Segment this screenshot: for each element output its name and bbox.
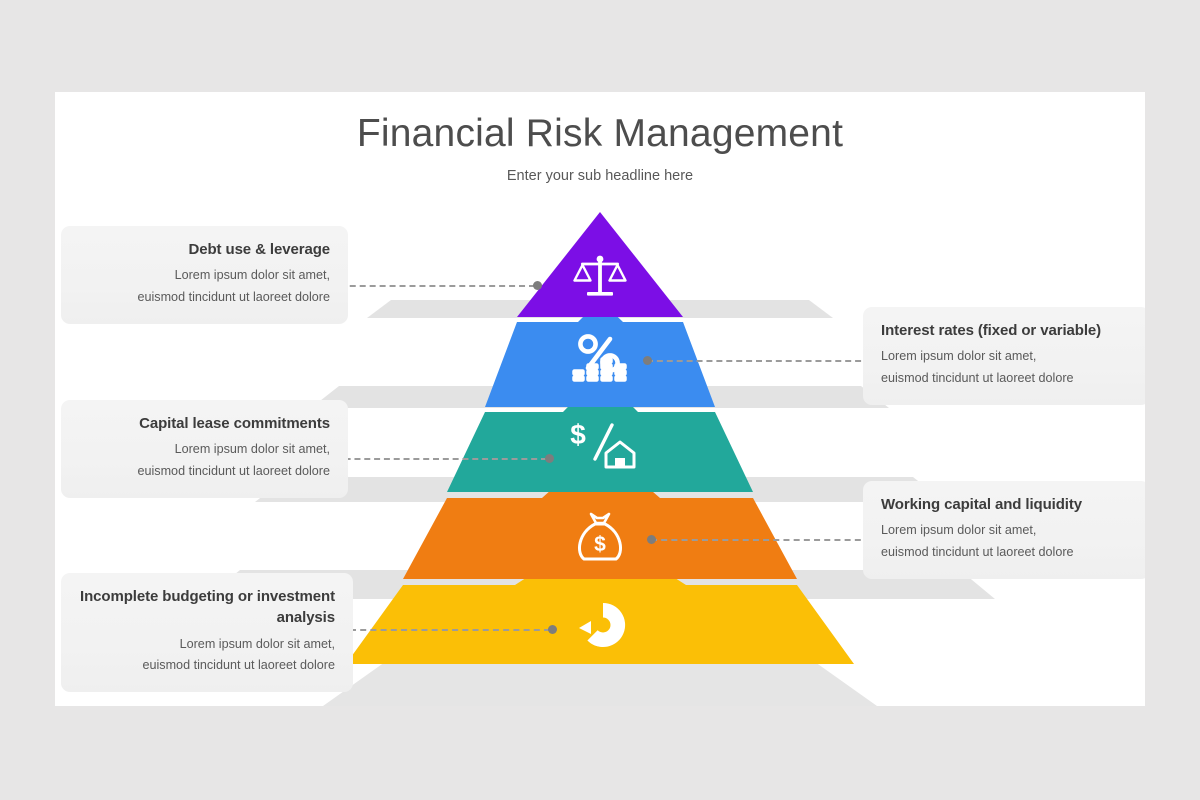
pyramid-tier-3 <box>447 374 753 492</box>
pyramid-base-shadow <box>323 662 877 706</box>
label-card-desc-line-1: Lorem ipsum dolor sit amet, <box>881 520 1132 542</box>
label-card-desc-line-1: Lorem ipsum dolor sit amet, <box>79 634 335 656</box>
connector-dot-3 <box>545 454 554 463</box>
label-card-desc-line-2: euismod tincidunt ut laoreet dolore <box>881 368 1132 390</box>
label-card-incomplete-budgeting[interactable]: Incomplete budgeting or investment analy… <box>61 573 353 692</box>
label-card-desc-line-2: euismod tincidunt ut laoreet dolore <box>79 461 330 483</box>
balance-scales-icon <box>575 256 626 296</box>
slide-canvas: Financial Risk Management Enter your sub… <box>55 92 1145 706</box>
tier-shadow-4 <box>311 386 889 408</box>
label-card-title: Working capital and liquidity <box>881 494 1132 515</box>
pie-chart-icon <box>577 603 625 647</box>
label-card-title: Debt use & leverage <box>79 239 330 260</box>
connector-dot-5 <box>548 625 557 634</box>
label-card-desc-line-2: euismod tincidunt ut laoreet dolore <box>881 542 1132 564</box>
tier-shadow-5 <box>367 300 833 318</box>
page-title: Financial Risk Management <box>55 112 1145 157</box>
money-bag-icon: $ <box>579 514 620 559</box>
tier-shadow-3 <box>255 477 945 502</box>
label-card-desc-line-1: Lorem ipsum dolor sit amet, <box>881 346 1132 368</box>
label-card-interest-rates[interactable]: Interest rates (fixed or variable) Lorem… <box>863 307 1145 405</box>
svg-text:$: $ <box>570 419 586 450</box>
connector-line-5 <box>350 629 550 631</box>
slide-header: Financial Risk Management Enter your sub… <box>55 112 1145 184</box>
connector-line-4 <box>651 539 871 541</box>
label-card-capital-lease-commitments[interactable]: Capital lease commitments Lorem ipsum do… <box>61 400 348 498</box>
label-card-desc-line-2: euismod tincidunt ut laoreet dolore <box>79 287 330 309</box>
pyramid-tier-5 <box>346 530 854 664</box>
dollar-house-icon: $ <box>570 419 634 467</box>
label-card-description: Lorem ipsum dolor sit amet, euismod tinc… <box>881 346 1132 389</box>
label-card-description: Lorem ipsum dolor sit amet, euismod tinc… <box>79 265 330 308</box>
connector-line-3 <box>325 458 547 460</box>
label-card-title: Interest rates (fixed or variable) <box>881 320 1132 341</box>
svg-text:$: $ <box>594 533 606 556</box>
label-card-debt-use-leverage[interactable]: Debt use & leverage Lorem ipsum dolor si… <box>61 226 348 324</box>
percent-coins-icon <box>573 336 626 381</box>
pyramid-tier-1 <box>517 212 683 317</box>
label-card-description: Lorem ipsum dolor sit amet, euismod tinc… <box>79 634 335 677</box>
label-card-description: Lorem ipsum dolor sit amet, euismod tinc… <box>79 439 330 482</box>
label-card-desc-line-1: Lorem ipsum dolor sit amet, <box>79 439 330 461</box>
label-card-title: Incomplete budgeting or investment analy… <box>79 586 335 629</box>
connector-dot-1 <box>533 281 542 290</box>
label-card-description: Lorem ipsum dolor sit amet, euismod tinc… <box>881 520 1132 563</box>
label-card-working-capital-liquidity[interactable]: Working capital and liquidity Lorem ipsu… <box>863 481 1145 579</box>
connector-dot-4 <box>647 535 656 544</box>
label-card-desc-line-2: euismod tincidunt ut laoreet dolore <box>79 655 335 677</box>
page-subtitle: Enter your sub headline here <box>55 168 1145 184</box>
connector-line-2 <box>647 360 871 362</box>
label-card-title: Capital lease commitments <box>79 413 330 434</box>
label-card-desc-line-1: Lorem ipsum dolor sit amet, <box>79 265 330 287</box>
pyramid-tier-4 <box>403 446 797 579</box>
connector-dot-2 <box>643 356 652 365</box>
pyramid-tier-2 <box>485 300 715 407</box>
